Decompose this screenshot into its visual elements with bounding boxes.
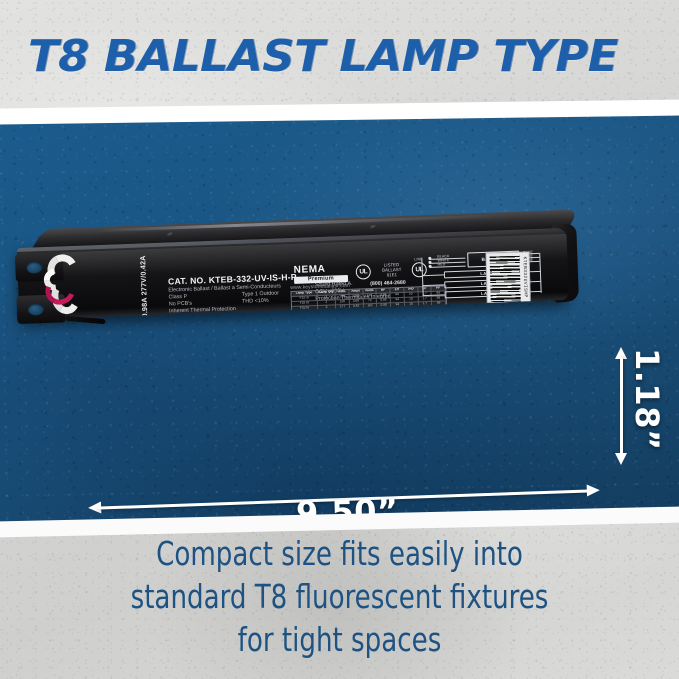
wiring-input-red: RED (437, 262, 445, 266)
mounting-hole (26, 261, 42, 274)
table-cell: 3 (318, 315, 336, 320)
black-wire (65, 316, 105, 324)
table-cell: 86 (364, 309, 378, 315)
nema-word: NEMA (294, 264, 348, 276)
arrow-head-right (587, 484, 600, 496)
height-dimension-arrow (620, 347, 623, 465)
table-cell: 1.7 (419, 307, 433, 313)
table-cell: 1.7 (419, 312, 433, 318)
table-cell: F17T8 (292, 316, 318, 320)
label-voltage-specs: 50/60Hz 120V/0.98A 277V/0.42A (139, 255, 152, 320)
table-cell: 277 (336, 305, 350, 311)
table-cell: 0.88 (377, 303, 391, 309)
table-cell: 0.87 (377, 308, 391, 314)
caption-line-2: standard T8 fluorescent fixtures (41, 575, 639, 618)
caption-line-1: Compact size fits easily into (41, 532, 639, 575)
table-cell: 120 (336, 310, 350, 316)
table-cell: 99 (433, 311, 447, 317)
ul-listed-text: LISTEDBALLAST81E1 (373, 262, 410, 278)
table-cell: 58 (364, 314, 378, 320)
table-cell: 93 (391, 308, 405, 314)
wiring-note-small: Install in accordance with National Elec… (417, 306, 541, 315)
table-cell: 92 (391, 313, 405, 319)
table-cell: 0.87 (378, 313, 392, 319)
ballast-rivet (369, 225, 379, 229)
table-cell: 3 (318, 305, 336, 311)
table-cell: 0.52 (350, 314, 364, 320)
table-cell: 120 (336, 315, 350, 320)
caption-line-3: for tight spaces (41, 618, 639, 661)
table-cell: 110 (363, 304, 377, 310)
mounting-hole (28, 303, 44, 316)
barcode-label: KTEB332UVISHP (485, 251, 531, 314)
height-dimension-label: 1.18” (628, 348, 666, 450)
table-cell: 94 (391, 303, 405, 309)
table-cell: 0.42 (350, 304, 364, 310)
barcode-bars (490, 256, 521, 313)
header-banner: T8 BALLAST LAMP TYPE (0, 0, 679, 112)
table-cell: F25T8 (292, 311, 318, 317)
table-cell: 10 (405, 312, 419, 318)
ballast-rivet (165, 232, 175, 236)
barcode-number: KTEB332UVISHP (522, 257, 528, 298)
caption-block: Compact size fits easily into standard T… (41, 532, 639, 661)
arrow-head-down (615, 453, 627, 465)
table-cell: 99 (432, 306, 446, 312)
ballast-product: 50/60Hz 120V/0.98A 277V/0.42A CAT. NO. K… (16, 210, 578, 338)
ul-listed-icon: UL (356, 264, 372, 280)
product-photo-panel: 50/60Hz 120V/0.98A 277V/0.42A CAT. NO. K… (0, 112, 679, 522)
table-cell: 0.77 (350, 309, 364, 315)
ballast-stage: 50/60Hz 120V/0.98A 277V/0.42A CAT. NO. K… (0, 112, 679, 522)
table-cell: 10 (405, 307, 419, 313)
dimension-bar (620, 357, 623, 455)
table-cell: F32T8 (292, 306, 318, 312)
page-title: T8 BALLAST LAMP TYPE (28, 31, 618, 82)
nema-premium-logo: NEMA Premium (294, 264, 349, 284)
wiring-notes: FOR TWO LAMP APPLICATION, CAP OFF ONE BL… (417, 301, 545, 315)
table-cell: 3 (318, 310, 336, 316)
